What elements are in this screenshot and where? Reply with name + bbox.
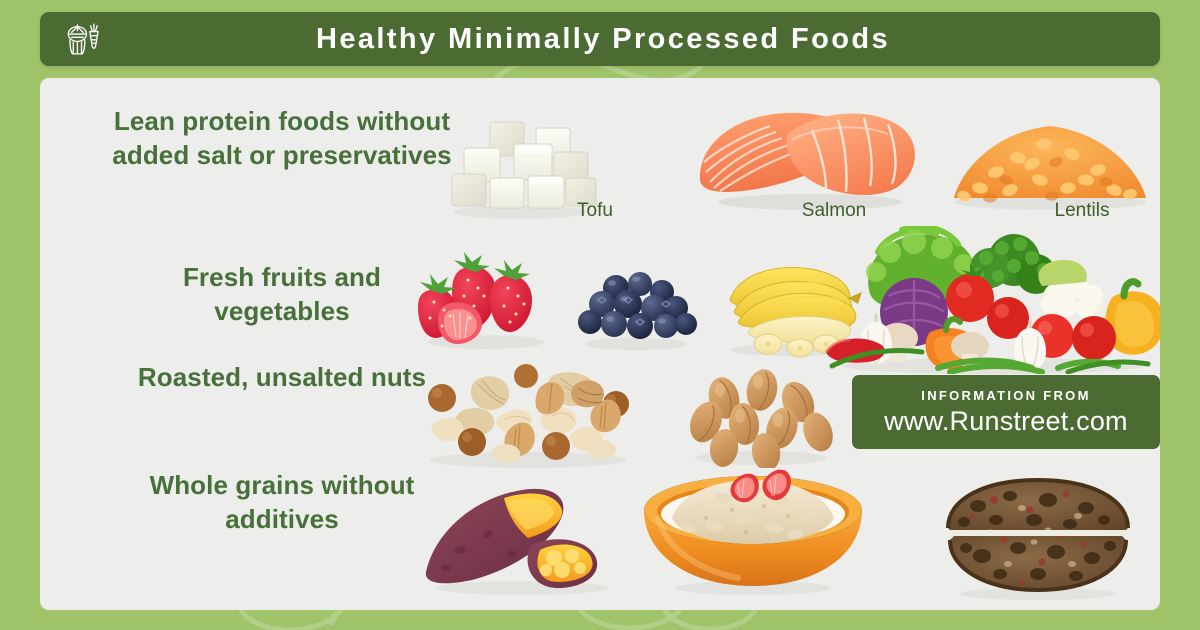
almonds-image [676, 368, 846, 468]
page-title: Healthy Minimally Processed Foods [104, 23, 1160, 56]
caption-tofu: Tofu [515, 200, 675, 222]
mixed-vegetables-image [818, 226, 1160, 374]
cabbage-carrot-icon [64, 20, 104, 58]
header-bar: Healthy Minimally Processed Foods [40, 12, 1160, 66]
caption-salmon: Salmon [754, 200, 914, 222]
caption-lentils: Lentils [1002, 200, 1160, 222]
row-label-whole-grains: Whole grains without additives [112, 468, 452, 537]
strawberries-image [412, 250, 562, 350]
blueberries-image [572, 266, 702, 352]
whole-grain-bread-image [938, 470, 1138, 600]
salmon-fillets-image [688, 94, 928, 214]
row-label-lean-protein: Lean protein foods without added salt or… [112, 104, 452, 173]
information-source-box[interactable]: INFORMATION FROM www.Runstreet.com [852, 375, 1160, 449]
row-label-fruits-vegetables: Fresh fruits and vegetables [112, 260, 452, 329]
content-panel: Lean protein foods without added salt or… [40, 78, 1160, 610]
row-label-roasted-nuts: Roasted, unsalted nuts [112, 360, 452, 394]
info-url-label[interactable]: www.Runstreet.com [884, 406, 1127, 437]
mixed-nuts-image [408, 360, 648, 470]
oatmeal-bowl-image [628, 466, 878, 596]
red-lentils-image [940, 110, 1160, 210]
infographic-poster: Healthy Minimally Processed Foods Lean p… [0, 0, 1200, 630]
sweet-potato-image [412, 476, 632, 596]
info-kicker-label: INFORMATION FROM [921, 388, 1090, 403]
